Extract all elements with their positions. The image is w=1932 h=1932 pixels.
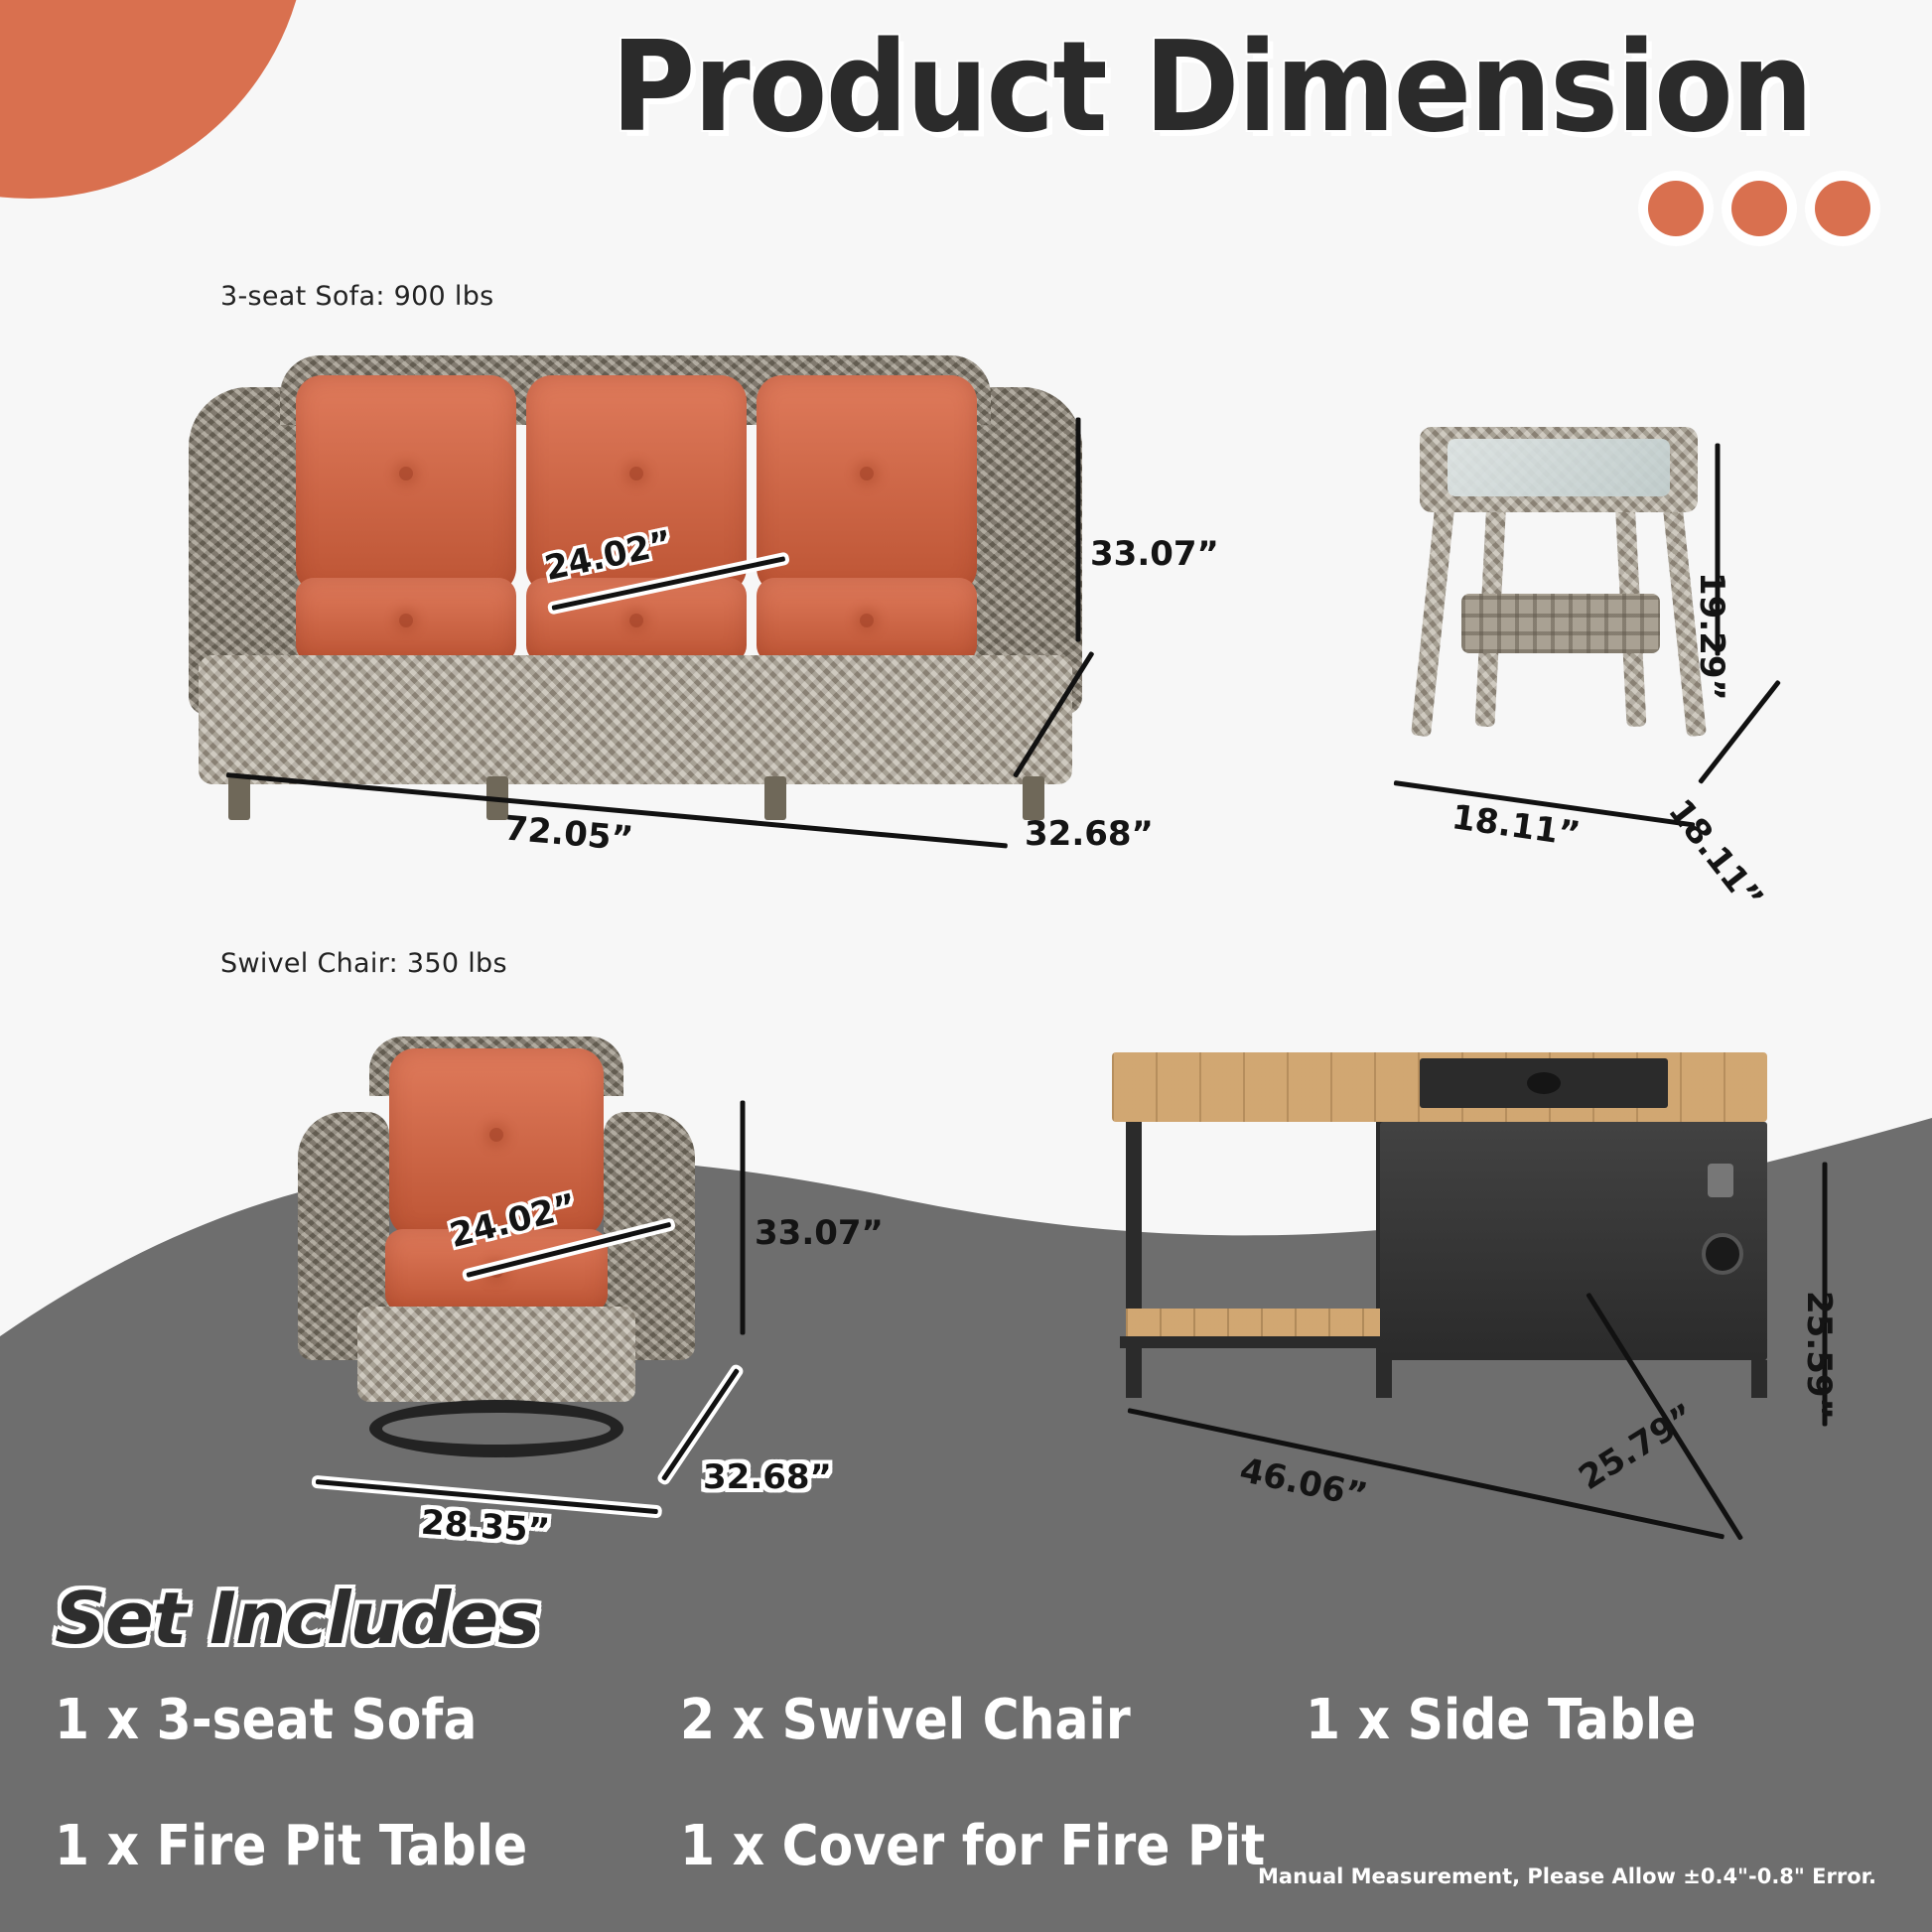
fire-pit-foot <box>1376 1360 1392 1398</box>
swivel-chair-weight-label: Swivel Chair: 350 lbs <box>220 948 507 979</box>
page-title: Product Dimension <box>572 22 1851 153</box>
side-table-depth-label: 18.11” <box>1660 792 1770 918</box>
set-includes-item: 1 x Fire Pit Table <box>55 1814 618 1878</box>
fire-pit-foot <box>1126 1360 1142 1398</box>
set-includes-title: Set Includes <box>55 1577 539 1660</box>
set-includes-item: 2 x Swivel Chair <box>680 1688 1243 1752</box>
measurement-disclaimer: Manual Measurement, Please Allow ±0.4"-0… <box>1258 1864 1876 1888</box>
sofa-back-cushion <box>757 375 977 594</box>
fire-pit-foot <box>1751 1360 1767 1398</box>
sofa-height-line <box>1076 418 1081 642</box>
fire-pit-door-handle[interactable] <box>1708 1164 1733 1197</box>
dot-icon <box>1815 181 1870 236</box>
sofa-leg <box>228 776 250 820</box>
chair-height-line <box>741 1101 746 1335</box>
chair-height-label: 33.07” <box>755 1213 884 1253</box>
sofa-weight-label: 3-seat Sofa: 900 lbs <box>220 281 494 312</box>
fire-pit-cabinet <box>1380 1122 1767 1360</box>
chair-depth-label: 32.68” <box>703 1457 832 1497</box>
corner-blob <box>0 0 308 199</box>
set-includes-item: 1 x Cover for Fire Pit <box>680 1814 1243 1878</box>
fire-pit-control-knob[interactable] <box>1702 1233 1743 1275</box>
fire-pit-lower-shelf <box>1126 1309 1392 1336</box>
sofa-width-label: 72.05” <box>503 808 635 859</box>
fire-pit-burner <box>1420 1058 1668 1108</box>
sofa-base <box>199 655 1072 784</box>
fire-pit-height-label: 25.59” <box>1799 1291 1839 1420</box>
set-includes-item: 1 x Side Table <box>1306 1688 1788 1752</box>
side-table-glass-top <box>1448 439 1670 496</box>
side-table-lower-shelf <box>1461 594 1660 653</box>
dot-icon <box>1731 181 1787 236</box>
chair-base <box>357 1307 635 1402</box>
set-includes-list: 1 x 3-seat Sofa 2 x Swivel Chair 1 x Sid… <box>55 1688 1842 1878</box>
sofa-depth-label: 32.68” <box>1025 814 1154 854</box>
sofa-back-cushion <box>296 375 516 594</box>
side-table-illustration <box>1410 427 1708 755</box>
sofa-seat-cushion <box>757 578 977 663</box>
set-includes-item: 1 x 3-seat Sofa <box>55 1688 618 1752</box>
dot-icon <box>1648 181 1704 236</box>
side-table-leg <box>1411 488 1456 738</box>
sofa-height-label: 33.07” <box>1090 534 1219 574</box>
decorative-dots <box>1648 181 1870 236</box>
side-table-height-label: 19.29” <box>1692 572 1731 701</box>
sofa-seat-cushion <box>296 578 516 663</box>
infographic-canvas: Product Dimension 3-seat Sofa: 900 lbs 2… <box>0 0 1932 1932</box>
chair-swivel-base <box>369 1400 623 1457</box>
sofa-leg <box>764 776 786 820</box>
fire-pit-shelf-bar <box>1120 1336 1400 1348</box>
fire-pit-table-illustration <box>1092 1052 1787 1430</box>
